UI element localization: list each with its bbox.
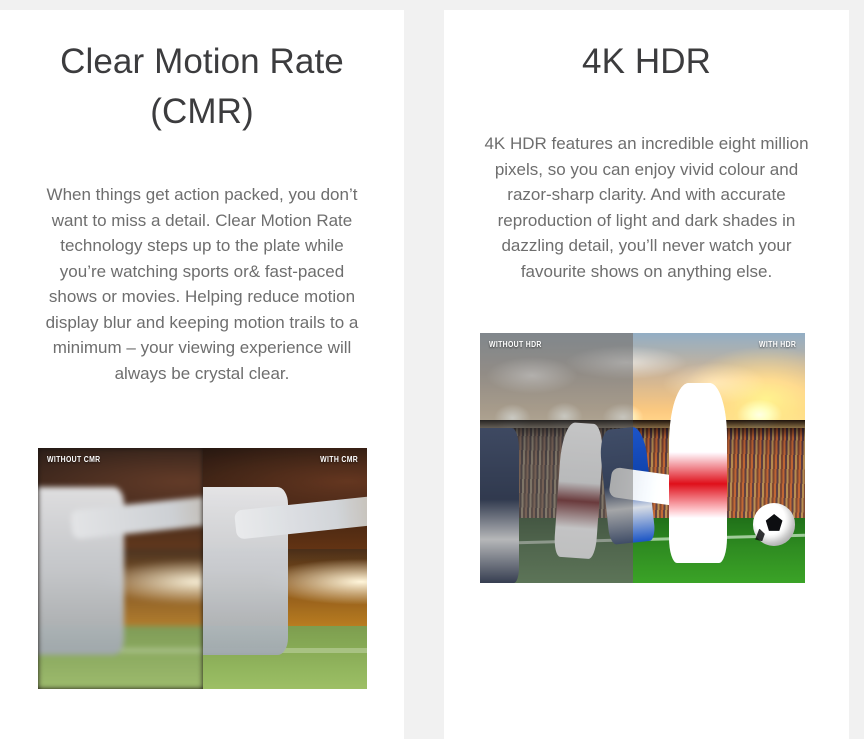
page-title-cmr: Clear Motion Rate (CMR) (36, 10, 368, 137)
cmr-without-label: WITHOUT CMR (47, 455, 100, 464)
player-figure (38, 448, 203, 689)
football-icon (753, 503, 795, 546)
cmr-with-half (203, 448, 368, 689)
cmr-scene-blurred (38, 448, 203, 689)
feature-description-hdr: 4K HDR features an incredible eight mill… (480, 87, 813, 284)
hdr-without-label: WITHOUT HDR (489, 340, 542, 349)
hdr-with-label: WITH HDR (759, 340, 796, 349)
feature-card-4k-hdr: 4K HDR 4K HDR features an incredible eig… (444, 10, 849, 739)
cmr-with-label: WITH CMR (320, 455, 358, 464)
page-title-hdr: 4K HDR (480, 10, 813, 87)
hdr-scene-flat (480, 333, 633, 583)
hdr-comparison-image: WITHOUT HDR WITH HDR (480, 333, 805, 583)
cmr-comparison-image: WITHOUT CMR WITH CMR (38, 448, 367, 689)
player-figure (203, 448, 368, 689)
cmr-scene-sharp (203, 448, 368, 689)
cmr-without-half (38, 448, 203, 689)
hdr-without-half (480, 333, 633, 583)
player-blue-foreground (480, 428, 519, 583)
player-white-number-7 (669, 383, 728, 563)
feature-description-cmr: When things get action packed, you don’t… (36, 137, 368, 386)
product-feature-page: Clear Motion Rate (CMR) When things get … (0, 0, 864, 739)
feature-card-clear-motion-rate: Clear Motion Rate (CMR) When things get … (0, 10, 404, 739)
